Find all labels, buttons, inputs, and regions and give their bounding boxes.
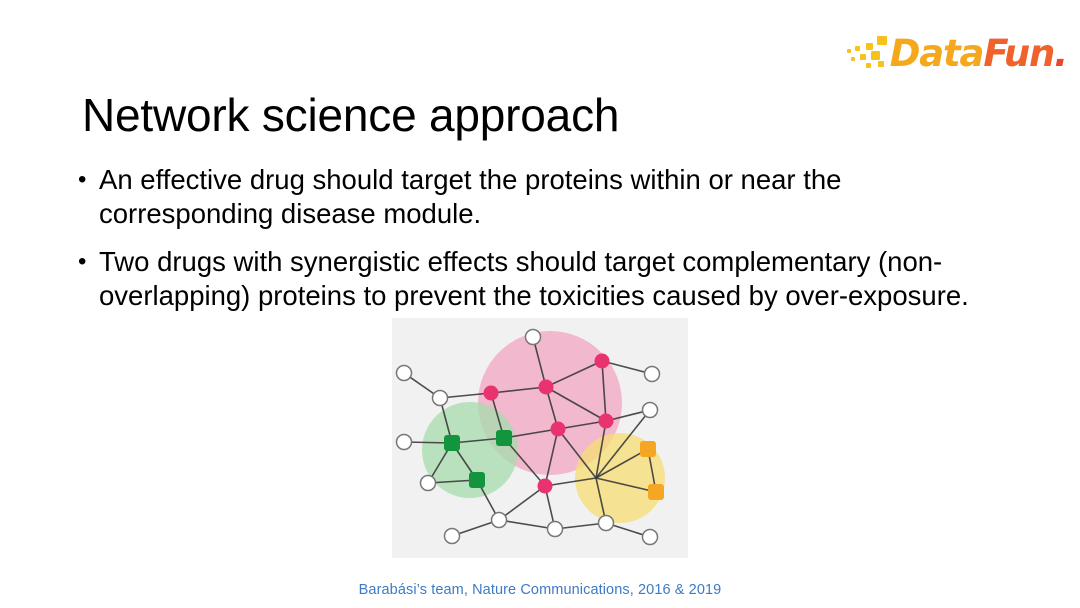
page-title: Network science approach xyxy=(82,89,619,142)
network-node-drug-a-target xyxy=(496,430,512,446)
network-node-white xyxy=(397,435,412,450)
list-item: • An effective drug should target the pr… xyxy=(78,163,1008,231)
module-blobs-layer xyxy=(422,331,665,523)
bullet-marker-icon: • xyxy=(78,245,99,279)
network-node-white xyxy=(645,367,660,382)
disease-module-network-diagram xyxy=(392,318,688,558)
network-node-white xyxy=(643,403,658,418)
network-node-white xyxy=(526,330,541,345)
network-node-white xyxy=(397,366,412,381)
network-node-disease-protein xyxy=(551,422,566,437)
network-node-white xyxy=(492,513,507,528)
network-node-white xyxy=(599,516,614,531)
network-node-disease-protein xyxy=(484,386,499,401)
network-node-drug-a-target xyxy=(469,472,485,488)
network-node-white xyxy=(643,530,658,545)
logo-pixel-cluster-icon xyxy=(847,36,889,70)
network-node-drug-b-target xyxy=(648,484,664,500)
network-node-disease-protein xyxy=(539,380,554,395)
network-edge xyxy=(499,520,555,529)
network-node-white xyxy=(445,529,460,544)
logo-text-data: Data xyxy=(890,32,984,75)
bullet-list: • An effective drug should target the pr… xyxy=(78,163,1008,327)
figure-source-caption: Barabási’s team, Nature Communications, … xyxy=(0,582,1080,598)
network-edge xyxy=(499,486,545,520)
network-node-white xyxy=(421,476,436,491)
slide-canvas: DataFun. Network science approach • An e… xyxy=(0,0,1080,608)
network-node-drug-b-target xyxy=(640,441,656,457)
list-item: • Two drugs with synergistic effects sho… xyxy=(78,245,1008,313)
bullet-marker-icon: • xyxy=(78,163,99,197)
bullet-text: An effective drug should target the prot… xyxy=(99,163,1008,231)
datafun-logo: DataFun. xyxy=(869,30,1067,76)
network-node-drug-a-target xyxy=(444,435,460,451)
logo-wordmark: DataFun. xyxy=(890,35,1067,72)
network-node-white xyxy=(548,522,563,537)
network-node-disease-protein xyxy=(595,354,610,369)
network-node-disease-protein xyxy=(538,479,553,494)
bullet-text: Two drugs with synergistic effects shoul… xyxy=(99,245,1008,313)
logo-text-fun: Fun xyxy=(983,32,1054,75)
network-node-disease-protein xyxy=(599,414,614,429)
network-graph-svg xyxy=(392,318,688,558)
network-node-white xyxy=(433,391,448,406)
logo-text-dot: . xyxy=(1054,32,1067,75)
